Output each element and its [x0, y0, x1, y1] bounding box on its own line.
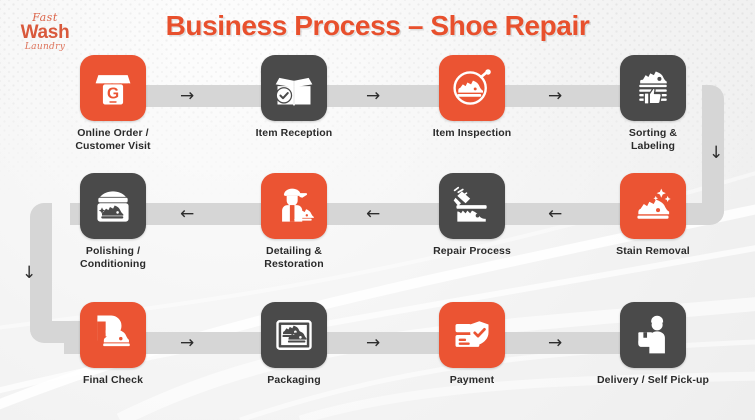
- step-final-check[interactable]: Final Check: [38, 302, 188, 387]
- delivery-person-box-icon: [631, 313, 675, 357]
- step-sorting-labeling[interactable]: Sorting & Labeling: [578, 55, 728, 153]
- step-icon-tile: [439, 173, 505, 239]
- step-caption: Payment: [397, 374, 547, 387]
- step-icon-tile: [261, 55, 327, 121]
- step-caption: Online Order / Customer Visit: [38, 127, 188, 153]
- caption-line-1: Detailing &: [219, 245, 369, 258]
- worker-shoe-icon: [272, 184, 316, 228]
- infographic-canvas: → → → ↓ ← ← ← ↓ → → → Business Process –…: [0, 0, 755, 420]
- open-box-check-icon: [272, 66, 316, 110]
- shoe-brush-repair-icon: [450, 184, 494, 228]
- shoe-shelf-thumbsup-icon: [631, 66, 675, 110]
- arrow-row2-step4-to-step3: ←: [548, 206, 562, 223]
- step-caption: Detailing & Restoration: [219, 245, 369, 271]
- step-item-inspection[interactable]: Item Inspection: [397, 55, 547, 140]
- step-payment[interactable]: Payment: [397, 302, 547, 387]
- svg-text:G: G: [107, 86, 119, 103]
- step-icon-tile: [439, 55, 505, 121]
- caption-line-1: Sorting &: [578, 127, 728, 140]
- step-caption: Polishing / Conditioning: [38, 245, 188, 271]
- step-caption: Item Inspection: [397, 127, 547, 140]
- step-polishing-conditioning[interactable]: Polishing / Conditioning: [38, 173, 188, 271]
- step-delivery-self-pickup[interactable]: Delivery / Self Pick-up: [578, 302, 728, 387]
- step-stain-removal[interactable]: Stain Removal: [578, 173, 728, 258]
- step-icon-tile: [261, 173, 327, 239]
- caption-line-1: Repair Process: [397, 245, 547, 258]
- step-icon-tile: G: [80, 55, 146, 121]
- step-icon-tile: [620, 302, 686, 368]
- arrow-row3-step3-to-step4: →: [548, 335, 562, 352]
- brand-logo: Fast Wash Laundry: [14, 12, 76, 72]
- step-packaging[interactable]: Packaging: [219, 302, 369, 387]
- page-title: Business Process – Shoe Repair: [0, 10, 755, 42]
- step-icon-tile: [620, 55, 686, 121]
- logo-line-wash: Wash: [14, 23, 76, 42]
- step-caption: Repair Process: [397, 245, 547, 258]
- step-caption: Item Reception: [219, 127, 369, 140]
- caption-line-2: Labeling: [578, 140, 728, 153]
- step-caption: Final Check: [38, 374, 188, 387]
- step-icon-tile: [80, 302, 146, 368]
- caption-line-2: Customer Visit: [38, 140, 188, 153]
- arrow-row1-step3-to-step4: →: [548, 88, 562, 105]
- logo-line-fast: Fast: [14, 12, 76, 23]
- shoe-in-box-icon: [272, 313, 316, 357]
- card-shield-check-icon: [450, 313, 494, 357]
- step-item-reception[interactable]: Item Reception: [219, 55, 369, 140]
- caption-line-1: Packaging: [219, 374, 369, 387]
- caption-line-1: Polishing /: [38, 245, 188, 258]
- step-caption: Sorting & Labeling: [578, 127, 728, 153]
- step-icon-tile: [261, 302, 327, 368]
- storefront-phone-g-icon: G: [91, 66, 135, 110]
- arrow-row2-to-row3-down: ↓: [22, 265, 36, 282]
- step-caption: Stain Removal: [578, 245, 728, 258]
- caption-line-1: Final Check: [38, 374, 188, 387]
- caption-line-2: Conditioning: [38, 258, 188, 271]
- logo-line-laundry: Laundry: [14, 42, 76, 52]
- caption-line-1: Item Inspection: [397, 127, 547, 140]
- shoe-sparkle-icon: [631, 184, 675, 228]
- caption-line-1: Online Order /: [38, 127, 188, 140]
- caption-line-1: Stain Removal: [578, 245, 728, 258]
- step-detailing-restoration[interactable]: Detailing & Restoration: [219, 173, 369, 271]
- step-icon-tile: [620, 173, 686, 239]
- step-caption: Packaging: [219, 374, 369, 387]
- step-repair-process[interactable]: Repair Process: [397, 173, 547, 258]
- step-icon-tile: [80, 173, 146, 239]
- caption-line-1: Item Reception: [219, 127, 369, 140]
- shoe-magnifier-icon: [450, 66, 494, 110]
- step-icon-tile: [439, 302, 505, 368]
- shoe-final-check-icon: [91, 313, 135, 357]
- step-caption: Delivery / Self Pick-up: [578, 374, 728, 387]
- caption-line-1: Payment: [397, 374, 547, 387]
- shoe-polish-tin-icon: [91, 184, 135, 228]
- caption-line-1: Delivery / Self Pick-up: [578, 374, 728, 387]
- caption-line-2: Restoration: [219, 258, 369, 271]
